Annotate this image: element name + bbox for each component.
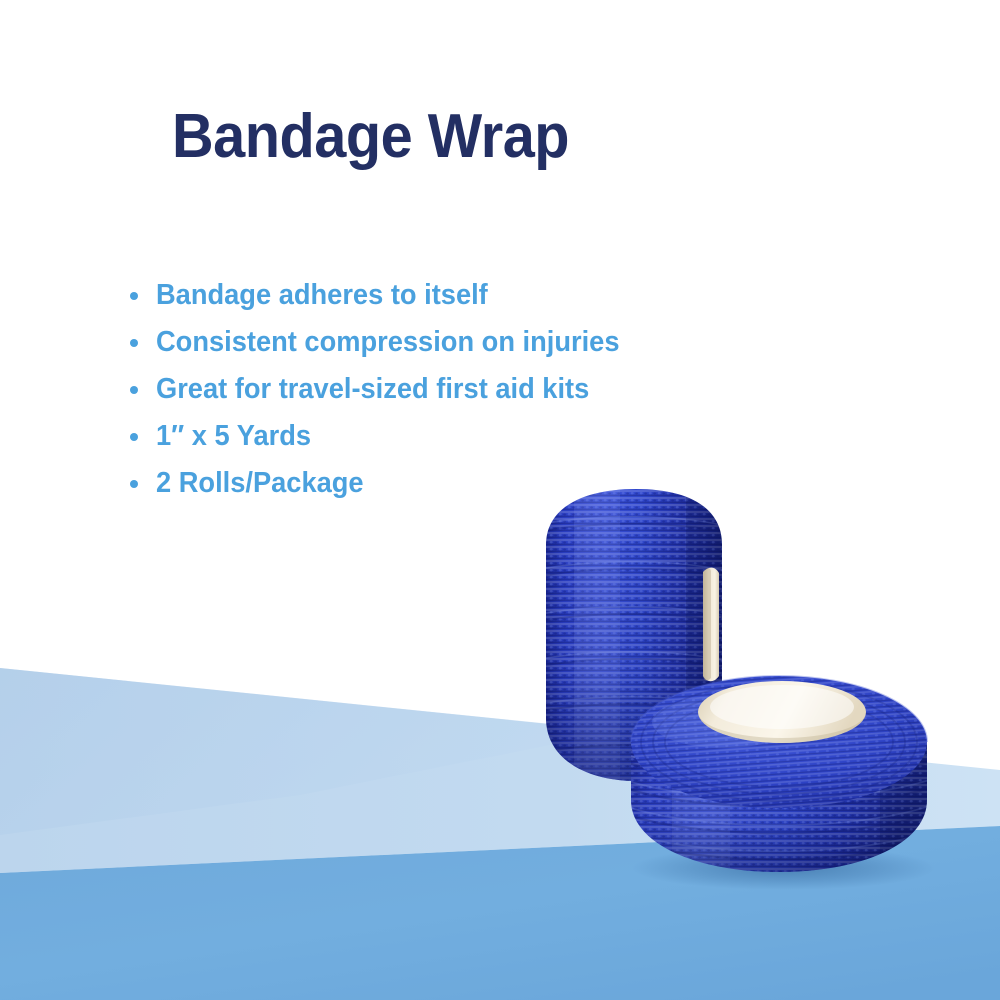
list-item: 1″ x 5 Yards (126, 413, 649, 460)
list-item: Great for travel-sized first aid kits (126, 366, 649, 413)
list-item: 2 Rolls/Package (126, 460, 649, 507)
feature-label: Great for travel-sized first aid kits (156, 373, 589, 406)
bullet-icon (130, 433, 138, 441)
list-item: Consistent compression on injuries (126, 319, 649, 366)
list-item: Bandage adheres to itself (126, 272, 649, 319)
feature-label: 1″ x 5 Yards (156, 420, 311, 453)
bullet-icon (130, 339, 138, 347)
bullet-icon (130, 292, 138, 300)
bullet-icon (130, 480, 138, 488)
product-card: Bandage Wrap Bandage adheres to itself C… (0, 0, 1000, 1000)
bullet-icon (130, 386, 138, 394)
feature-label: Consistent compression on injuries (156, 326, 620, 359)
feature-label: 2 Rolls/Package (156, 467, 364, 500)
feature-list: Bandage adheres to itself Consistent com… (126, 272, 649, 507)
feature-label: Bandage adheres to itself (156, 279, 488, 312)
page-title: Bandage Wrap (172, 104, 569, 169)
